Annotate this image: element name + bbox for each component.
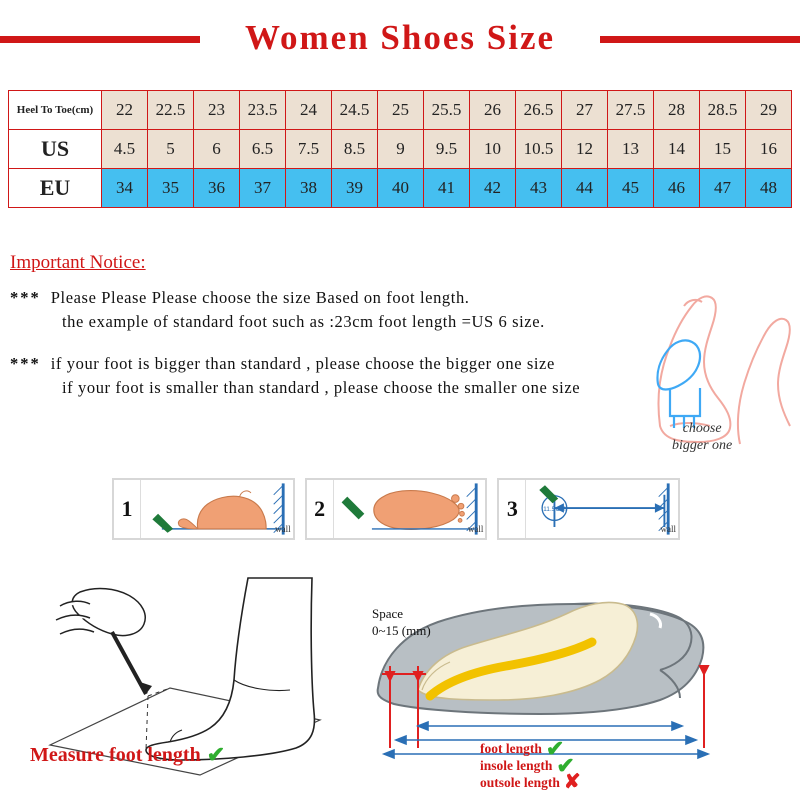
step-3-ruler-text: 11.5CM <box>543 506 566 513</box>
measure-caption-text: Measure foot length <box>30 744 201 767</box>
notice-line-2: the example of standard foot such as :23… <box>10 312 670 332</box>
cell-eu-2: 36 <box>194 169 240 208</box>
notice-line-1: ***Please Please Please choose the size … <box>10 288 670 308</box>
cell-us-12: 14 <box>654 130 700 169</box>
cell-eu-9: 43 <box>516 169 562 208</box>
step-2-illustration: wall <box>334 480 486 538</box>
cell-us-13: 15 <box>700 130 746 169</box>
cell-us-9: 10.5 <box>516 130 562 169</box>
cell-eu-12: 46 <box>654 169 700 208</box>
cell-us-4: 7.5 <box>286 130 332 169</box>
cell-us-0: 4.5 <box>102 130 148 169</box>
step-1-illustration: wall <box>141 480 293 538</box>
notice-text-3: if your foot is bigger than standard , p… <box>51 354 555 373</box>
cell-eu-3: 37 <box>240 169 286 208</box>
step-1: 1 wall <box>112 478 295 540</box>
cell-heel-10: 27 <box>562 91 608 130</box>
step-3-wall-label: wall <box>661 524 677 534</box>
row-header-heel-to-toe: Heel To Toe(cm) <box>9 91 102 130</box>
cell-us-8: 10 <box>470 130 516 169</box>
notice-stars-2: *** <box>10 354 41 373</box>
title-text: Women Shoes Size <box>231 18 569 58</box>
notice-heading: Important Notice: <box>10 252 146 274</box>
check-icon: ✔ <box>207 742 225 768</box>
cell-heel-11: 27.5 <box>608 91 654 130</box>
step-1-wall-label: wall <box>275 524 291 534</box>
cell-us-6: 9 <box>378 130 424 169</box>
step-1-number: 1 <box>114 480 141 538</box>
table-row: EU 34 35 36 37 38 39 40 41 42 43 44 45 4… <box>9 169 792 208</box>
cell-us-1: 5 <box>148 130 194 169</box>
legend-label-outsole-length: outsole length <box>480 774 560 791</box>
cell-eu-13: 47 <box>700 169 746 208</box>
cell-eu-7: 41 <box>424 169 470 208</box>
foot-on-paper-side-icon <box>141 480 293 538</box>
cell-eu-0: 34 <box>102 169 148 208</box>
step-2: 2 wall <box>305 478 488 540</box>
foot-sole-top-icon <box>334 480 486 538</box>
cell-heel-13: 28.5 <box>700 91 746 130</box>
shoe-legend: foot length ✔ insole length ✔ outsole le… <box>480 740 581 791</box>
cell-heel-12: 28 <box>654 91 700 130</box>
size-table-wrapper: Heel To Toe(cm) 22 22.5 23 23.5 24 24.5 … <box>8 90 792 208</box>
cell-eu-8: 42 <box>470 169 516 208</box>
cell-us-3: 6.5 <box>240 130 286 169</box>
title-rule-left <box>0 36 200 43</box>
step-3-number: 3 <box>499 480 526 538</box>
cell-us-11: 13 <box>608 130 654 169</box>
cell-eu-14: 48 <box>746 169 792 208</box>
step-3: 3 11.5CM wall <box>497 478 680 540</box>
cell-heel-7: 25.5 <box>424 91 470 130</box>
cell-heel-9: 26.5 <box>516 91 562 130</box>
ruler-measure-icon: 11.5CM <box>526 480 678 538</box>
cell-us-5: 8.5 <box>332 130 378 169</box>
choose-note-line2: bigger one <box>672 437 732 454</box>
cell-us-7: 9.5 <box>424 130 470 169</box>
page-title: Women Shoes Size <box>0 10 800 66</box>
cell-heel-3: 23.5 <box>240 91 286 130</box>
space-label: Space 0~15 (mm) <box>372 605 431 639</box>
space-label-line1: Space <box>372 605 431 622</box>
title-rule-right <box>600 36 800 43</box>
cell-us-2: 6 <box>194 130 240 169</box>
notice-line-4: if your foot is smaller than standard , … <box>10 378 670 398</box>
cross-icon: ✘ <box>564 774 581 791</box>
row-header-us: US <box>9 130 102 169</box>
cell-heel-8: 26 <box>470 91 516 130</box>
cell-heel-6: 25 <box>378 91 424 130</box>
legend-label-foot-length: foot length <box>480 740 542 757</box>
notice-text-1: Please Please Please choose the size Bas… <box>51 288 470 307</box>
cell-eu-1: 35 <box>148 169 194 208</box>
cell-heel-4: 24 <box>286 91 332 130</box>
cell-us-10: 12 <box>562 130 608 169</box>
notice-line-3: ***if your foot is bigger than standard … <box>10 354 670 374</box>
step-3-illustration: 11.5CM wall <box>526 480 678 538</box>
cell-us-14: 16 <box>746 130 792 169</box>
step-2-number: 2 <box>307 480 334 538</box>
cell-eu-5: 39 <box>332 169 378 208</box>
choose-note-line1: choose <box>672 420 732 437</box>
size-table: Heel To Toe(cm) 22 22.5 23 23.5 24 24.5 … <box>8 90 792 208</box>
notice-block: ***Please Please Please choose the size … <box>10 288 670 402</box>
legend-item-outsole-length: outsole length ✘ <box>480 774 581 791</box>
cell-eu-10: 44 <box>562 169 608 208</box>
notice-text-2: the example of standard foot such as :23… <box>62 312 545 331</box>
cell-heel-14: 29 <box>746 91 792 130</box>
cell-heel-5: 24.5 <box>332 91 378 130</box>
measure-caption: Measure foot length ✔ <box>30 742 330 768</box>
measure-steps: 1 wall 2 <box>112 478 680 540</box>
cell-eu-6: 40 <box>378 169 424 208</box>
notice-text-4: if your foot is smaller than standard , … <box>62 378 580 397</box>
table-row: US 4.5 5 6 6.5 7.5 8.5 9 9.5 10 10.5 12 … <box>9 130 792 169</box>
cell-heel-2: 23 <box>194 91 240 130</box>
legend-label-insole-length: insole length <box>480 757 552 774</box>
cell-eu-11: 45 <box>608 169 654 208</box>
notice-stars-1: *** <box>10 288 41 307</box>
cell-heel-1: 22.5 <box>148 91 194 130</box>
space-label-line2: 0~15 (mm) <box>372 622 431 639</box>
step-2-wall-label: wall <box>468 524 484 534</box>
cell-heel-0: 22 <box>102 91 148 130</box>
cell-eu-4: 38 <box>286 169 332 208</box>
table-row: Heel To Toe(cm) 22 22.5 23 23.5 24 24.5 … <box>9 91 792 130</box>
row-header-eu: EU <box>9 169 102 208</box>
choose-bigger-note: choose bigger one <box>672 420 732 454</box>
